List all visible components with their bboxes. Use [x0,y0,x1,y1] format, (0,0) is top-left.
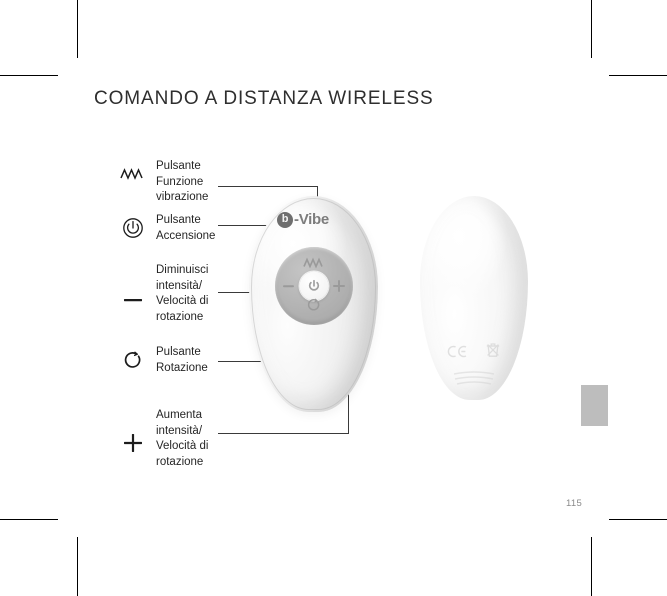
power-icon [118,213,148,243]
leader-line-vibration-horizontal [218,186,318,187]
crop-mark-top-right-horizontal [609,75,667,76]
remote-front-view: b -Vibe [249,196,378,412]
brand-name: -Vibe [294,211,329,228]
vibration-wave-icon [118,159,148,189]
weee-bin-icon [485,342,501,364]
minus-icon [118,285,148,315]
page-title: COMANDO A DISTANZA WIRELESS [94,88,434,110]
ce-mark-icon [447,344,469,364]
manual-page: COMANDO A DISTANZA WIRELESS Pulsante Fun… [0,0,667,596]
control-pad[interactable] [275,247,353,325]
leader-line-plus-horizontal [218,433,349,434]
callout-plus-label: Aumenta intensità/ Velocità di rotazione [156,408,228,470]
rotation-button[interactable] [307,298,321,317]
plus-icon [118,428,148,458]
callout-minus-label: Diminuisci intensità/ Velocità di rotazi… [156,263,228,325]
crop-mark-top-left-vertical [77,0,78,58]
remote-back-view [420,196,528,400]
crop-mark-bottom-left-vertical [77,537,78,596]
crop-mark-bottom-right-horizontal [609,519,667,520]
brand-logo: b -Vibe [277,211,329,228]
rotation-icon [118,345,148,375]
crop-mark-bottom-left-horizontal [0,519,58,520]
plus-button[interactable] [333,280,345,292]
minus-button[interactable] [283,285,294,287]
crop-mark-bottom-right-vertical [591,537,592,596]
power-button[interactable] [300,272,329,301]
callout-power-label: Pulsante Accensione [156,213,228,244]
callout-vibration-label: Pulsante Funzione vibrazione [156,159,228,206]
crop-mark-top-left-horizontal [0,75,58,76]
callout-rotation-label: Pulsante Rotazione [156,345,228,376]
thumb-index-tab [581,385,608,426]
ridge-lines [451,370,497,386]
compliance-marks [447,342,501,364]
page-number: 115 [566,498,582,509]
crop-mark-top-right-vertical [591,0,592,58]
brand-badge-icon: b [277,212,293,228]
